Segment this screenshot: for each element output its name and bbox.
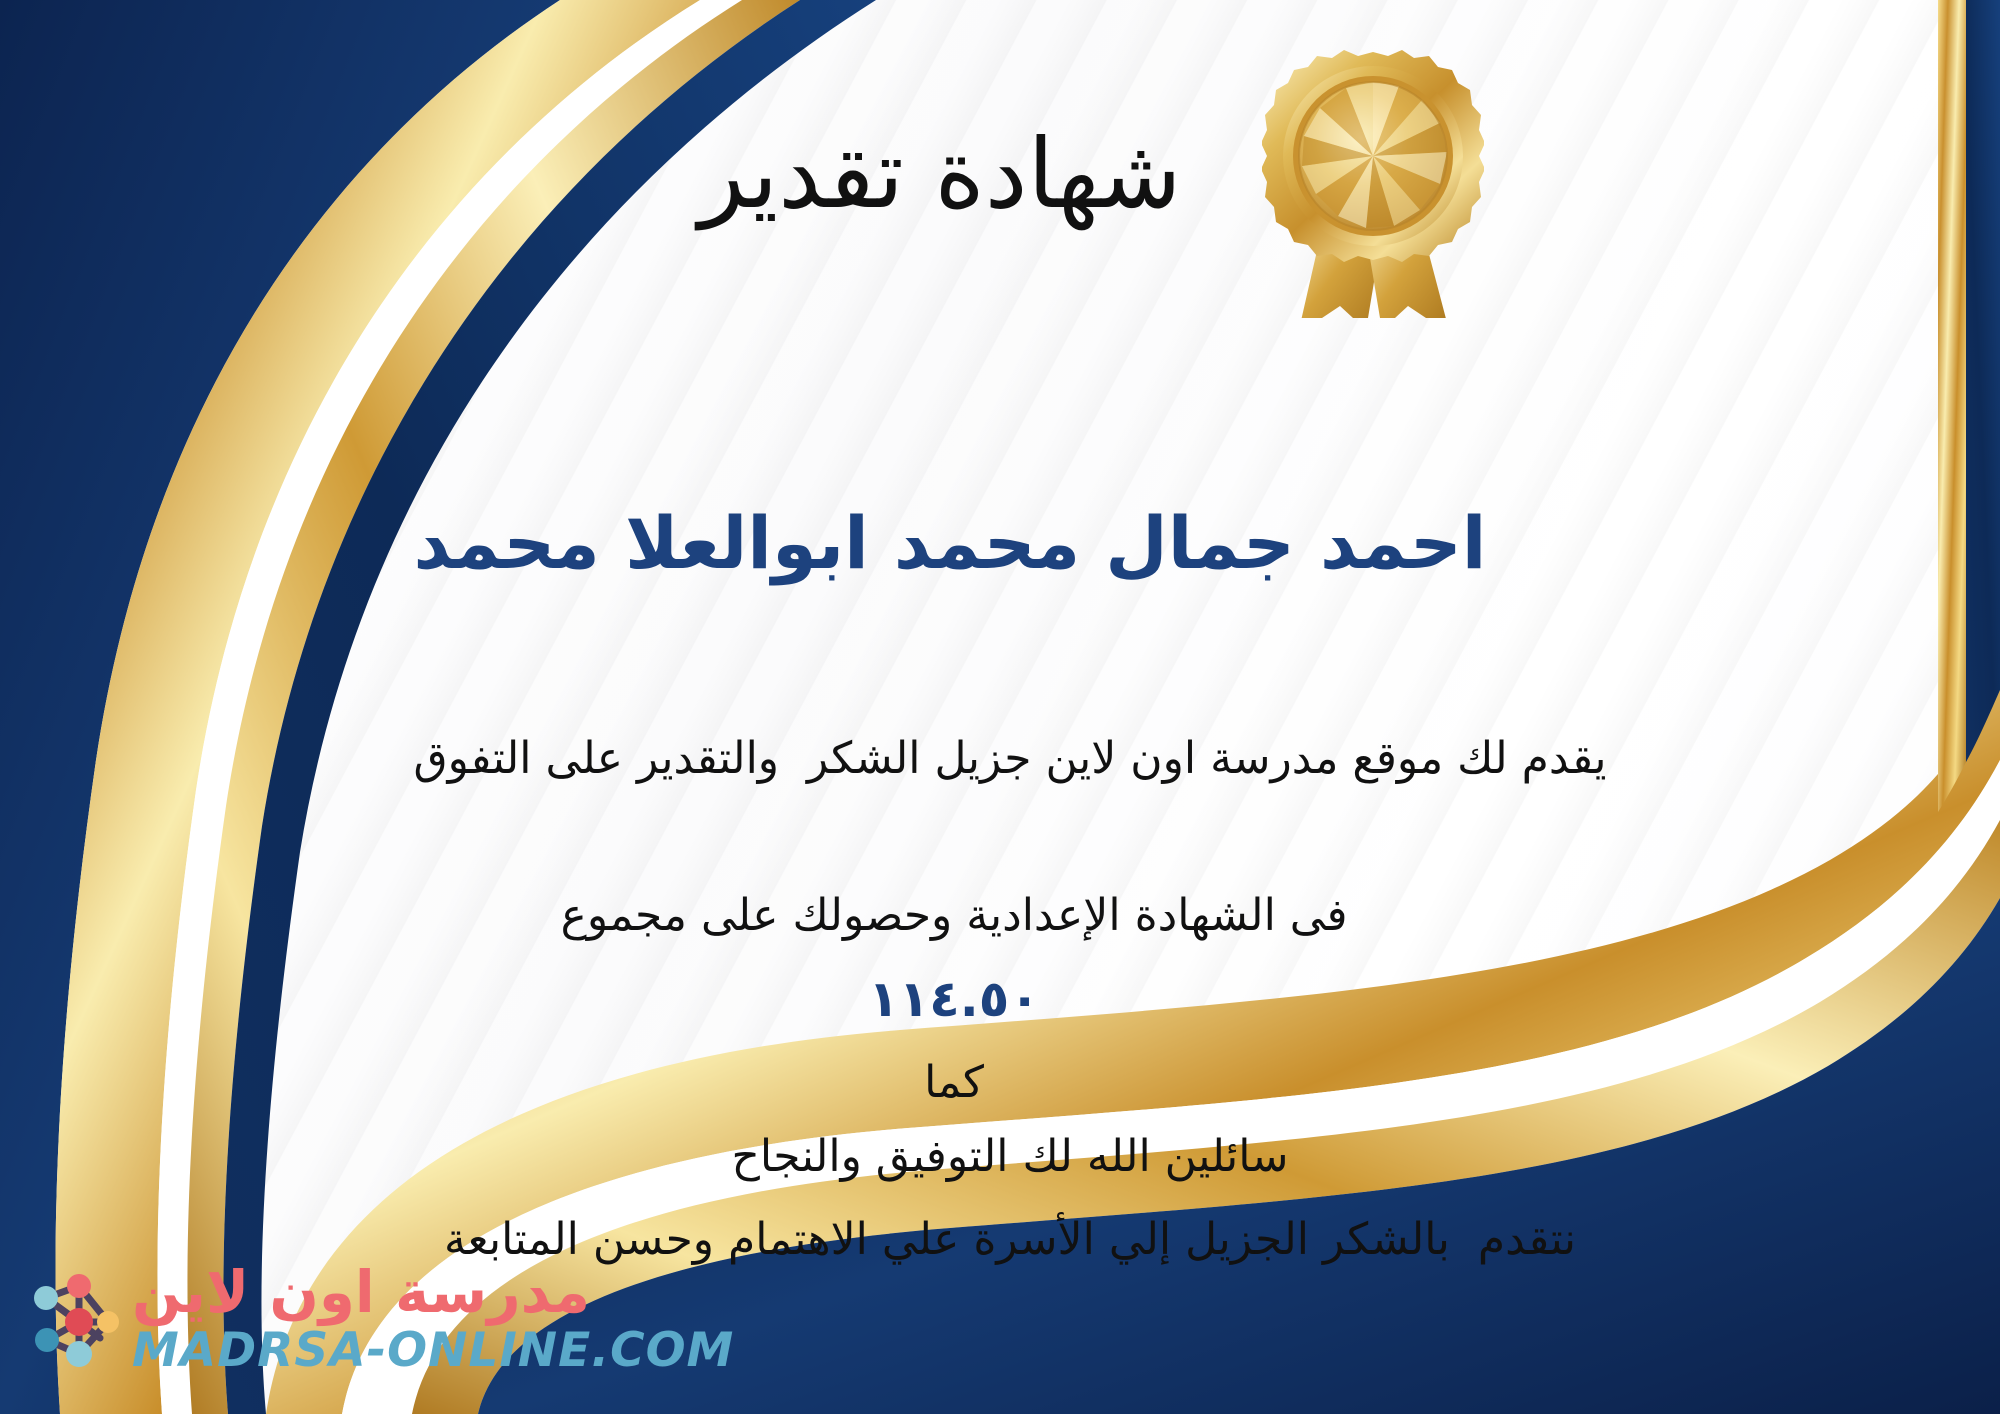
brand-text-group: مدرسة اون لاين MADRSA-ONLINE.COM [132, 1263, 734, 1374]
network-nodes-icon [22, 1266, 126, 1370]
gold-award-seal-icon [1262, 38, 1484, 318]
certificate-canvas: شهادة تقدير احمد جمال محمد ابوالعلا محمد… [0, 0, 2000, 1414]
brand-name-arabic: مدرسة اون لاين [132, 1263, 590, 1321]
brand-url[interactable]: MADRSA-ONLINE.COM [132, 1327, 734, 1374]
certificate-border-frame [0, 0, 2000, 1414]
brand-logo[interactable]: مدرسة اون لاين MADRSA-ONLINE.COM [22, 1238, 492, 1398]
